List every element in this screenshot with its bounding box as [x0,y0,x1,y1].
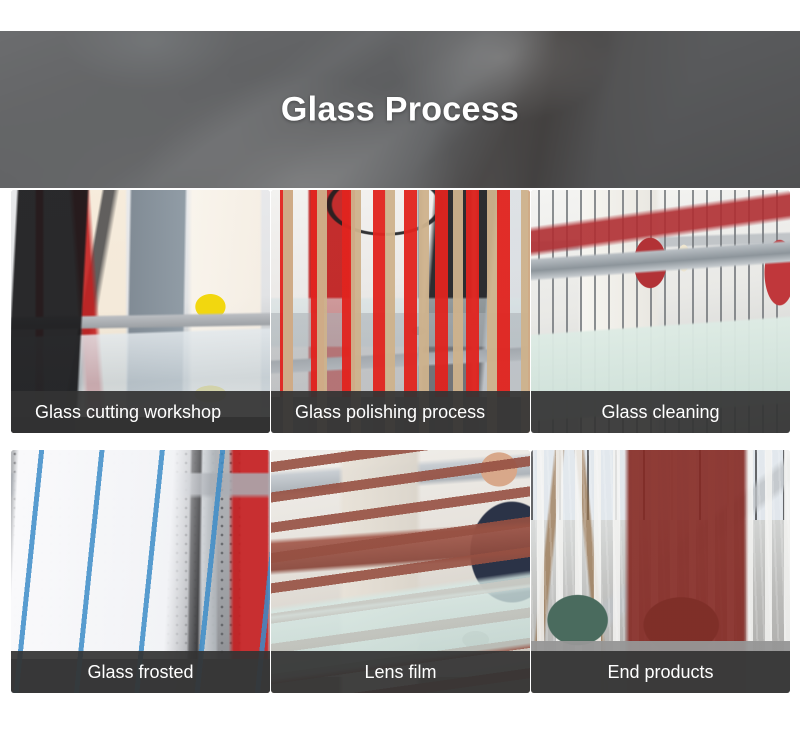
process-card-lens-film[interactable]: Lens film [271,450,530,693]
page-title: Glass Process [0,90,800,129]
card-caption: Glass frosted [11,651,270,693]
process-card-glass-cleaning[interactable]: Glass cleaning [531,190,790,433]
card-caption: Lens film [271,651,530,693]
card-caption: Glass cleaning [531,391,790,433]
process-card-end-products[interactable]: End products [531,450,790,693]
hero-banner: Glass Process [0,31,800,188]
process-gallery-grid: Glass cutting workshop Glass polishing p… [11,190,790,693]
card-caption: Glass cutting workshop [11,391,270,433]
glass-process-page: Glass Process Glass cutting workshop Gla… [0,0,800,741]
process-card-glass-frosted[interactable]: Glass frosted [11,450,270,693]
process-card-glass-polishing-process[interactable]: Glass polishing process [271,190,530,433]
card-caption: End products [531,651,790,693]
card-caption: Glass polishing process [271,391,530,433]
process-card-glass-cutting-workshop[interactable]: Glass cutting workshop [11,190,270,433]
